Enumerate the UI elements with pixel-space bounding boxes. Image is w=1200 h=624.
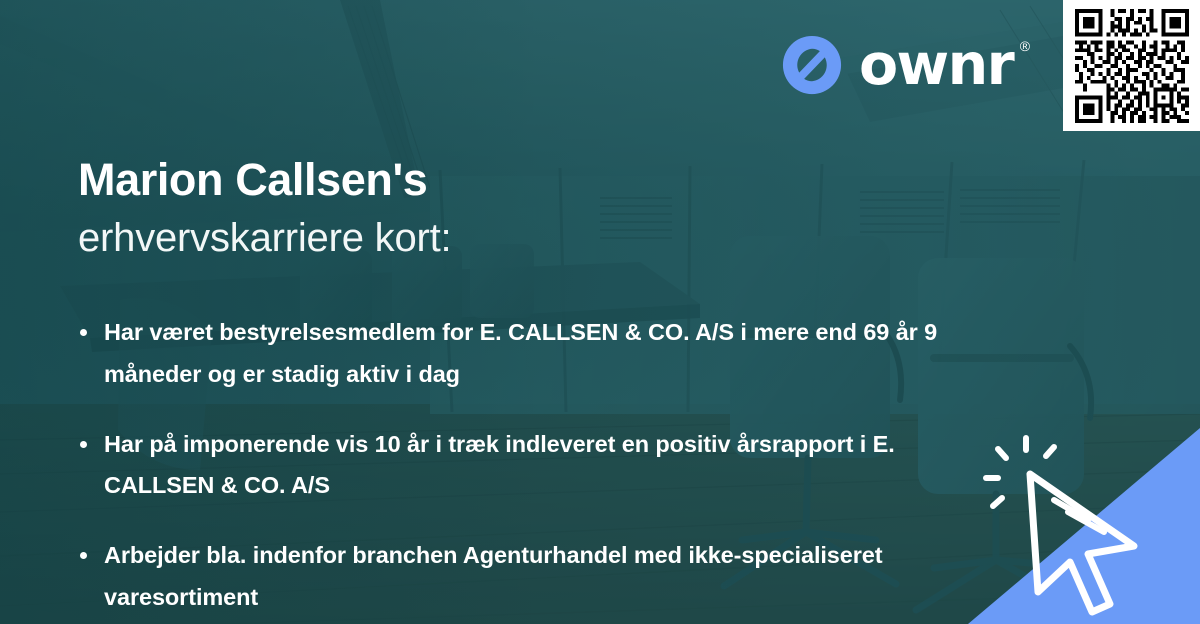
list-item-text: Har været bestyrelsesmedlem for E. CALLS… [104,319,937,387]
list-item-text: Arbejder bla. indenfor branchen Agenturh… [104,542,882,610]
heading-block: Marion Callsen's erhvervskarriere kort: [78,156,451,261]
ownr-wordmark: ownr® [859,37,1013,94]
list-item: Har på imponerende vis 10 år i træk indl… [78,424,1008,508]
bullet-dot-icon [80,441,87,448]
registered-trademark-symbol: ® [1020,39,1030,53]
bullet-dot-icon [80,329,87,336]
list-item: Har været bestyrelsesmedlem for E. CALLS… [78,312,1008,396]
business-career-card: ownr® Marion Callsen's erhvervskarriere … [0,0,1200,624]
ownr-swirl-icon [781,34,843,96]
list-item: Arbejder bla. indenfor branchen Agenturh… [78,535,1008,619]
ownr-logo[interactable]: ownr® [781,34,1013,96]
career-highlights-list: Har været bestyrelsesmedlem for E. CALLS… [78,312,1008,619]
page-subtitle: erhvervskarriere kort: [78,215,451,261]
qr-code[interactable] [1063,0,1200,131]
ownr-wordmark-text: ownr [859,32,1013,98]
list-item-text: Har på imponerende vis 10 år i træk indl… [104,431,895,499]
page-title: Marion Callsen's [78,156,451,205]
bullet-dot-icon [80,552,87,559]
